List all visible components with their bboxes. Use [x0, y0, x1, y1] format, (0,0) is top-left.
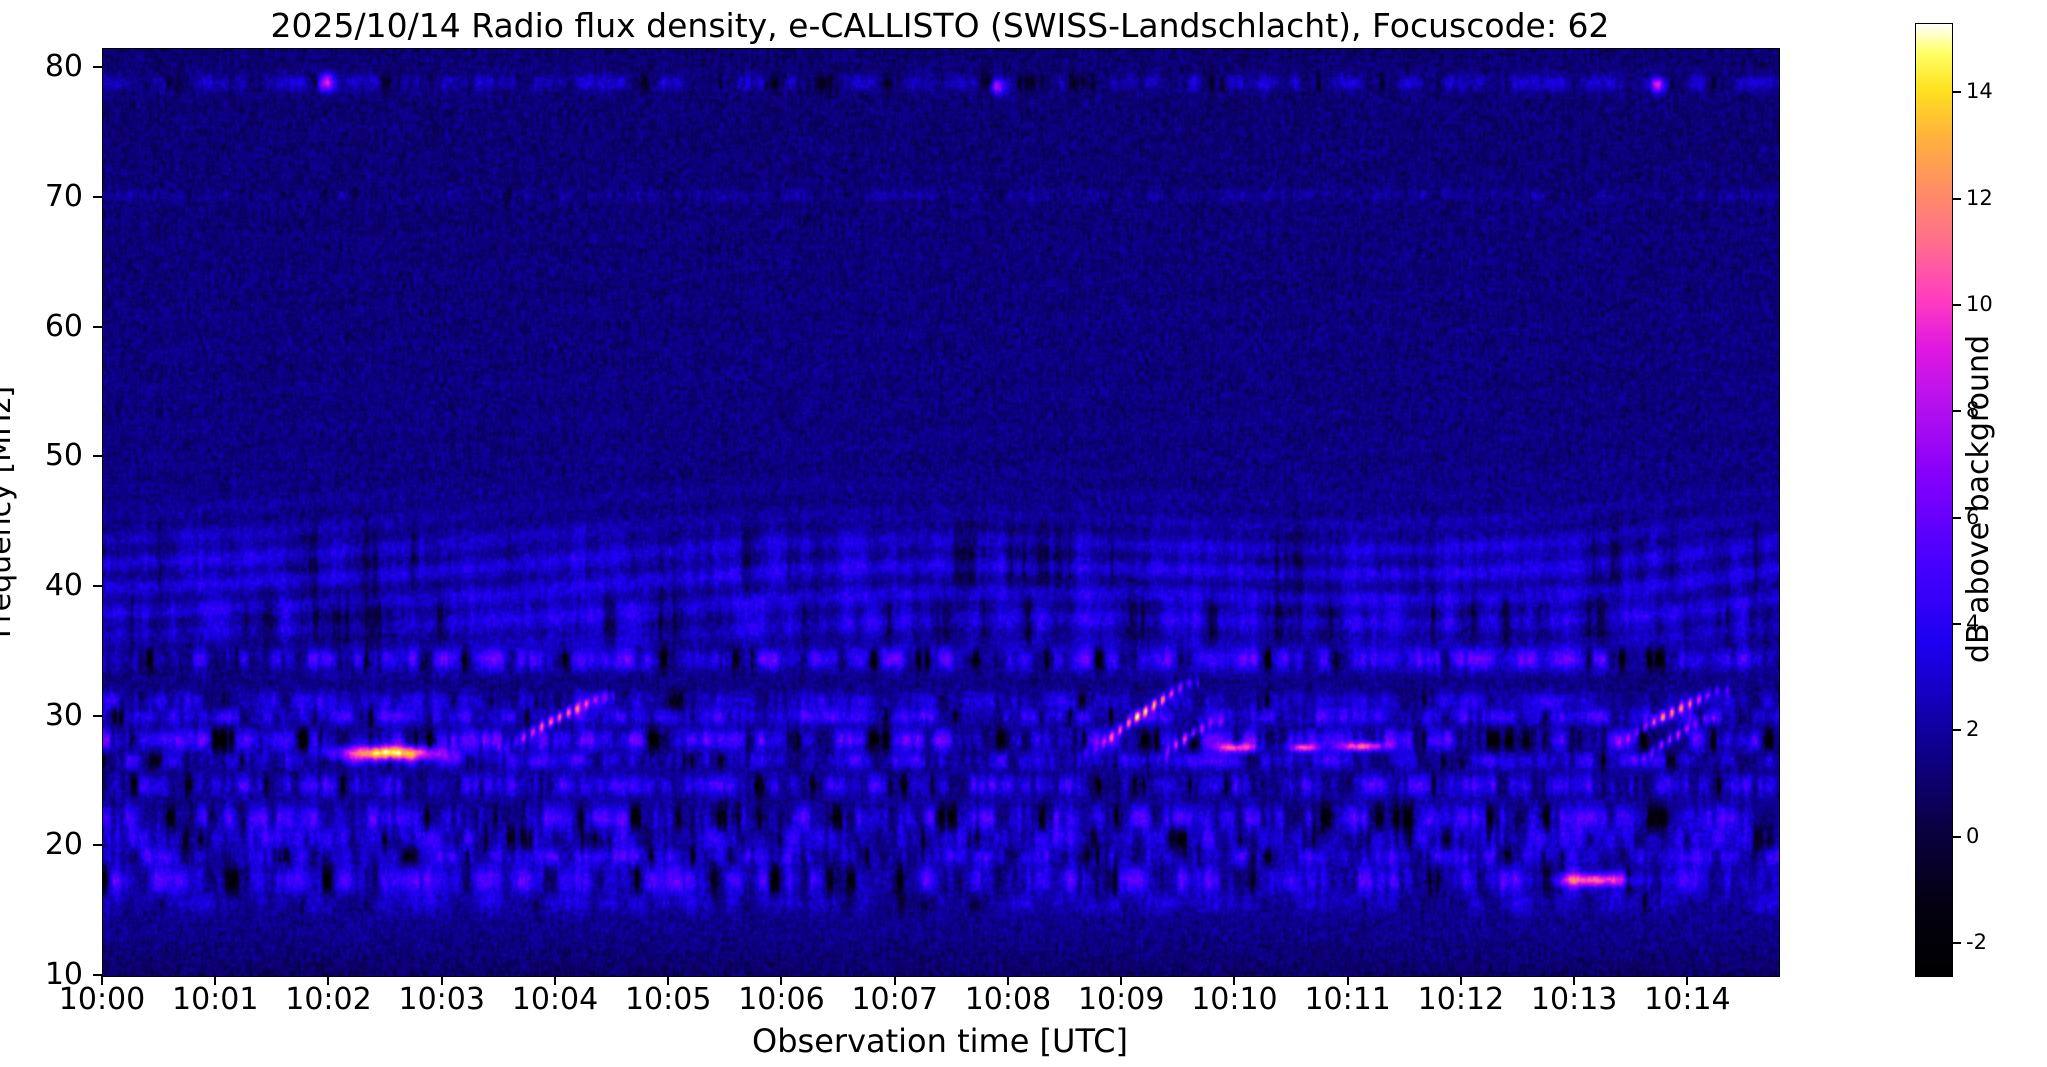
- y-tick-label: 80: [25, 52, 83, 82]
- x-tick-mark: [1347, 976, 1349, 985]
- spectrogram-plot-area: [102, 48, 1780, 977]
- x-tick-mark: [1573, 976, 1575, 985]
- x-tick-mark: [1686, 976, 1688, 985]
- colorbar-tick-label: -2: [1966, 932, 1987, 953]
- colorbar-tick-mark: [1953, 623, 1961, 625]
- y-tick-label: 60: [25, 312, 83, 342]
- colorbar: [1915, 23, 1953, 977]
- colorbar-label: dB above background: [1961, 335, 1996, 663]
- y-tick-mark: [93, 844, 102, 846]
- y-tick-label: 20: [25, 830, 83, 860]
- x-tick-mark: [214, 976, 216, 985]
- x-tick-mark: [101, 976, 103, 985]
- x-tick-mark: [667, 976, 669, 985]
- y-tick-label: 40: [25, 571, 83, 601]
- y-tick-mark: [93, 196, 102, 198]
- x-tick-mark: [1120, 976, 1122, 985]
- y-tick-label: 30: [25, 701, 83, 731]
- x-tick-mark: [554, 976, 556, 985]
- colorbar-tick-mark: [1953, 836, 1961, 838]
- colorbar-tick-mark: [1953, 304, 1961, 306]
- x-tick-mark: [1233, 976, 1235, 985]
- y-tick-label: 50: [25, 441, 83, 471]
- x-tick-mark: [894, 976, 896, 985]
- y-tick-mark: [93, 585, 102, 587]
- y-tick-label: 70: [25, 182, 83, 212]
- page-title: 2025/10/14 Radio flux density, e-CALLIST…: [102, 6, 1778, 46]
- y-tick-mark: [93, 66, 102, 68]
- x-tick-mark: [1460, 976, 1462, 985]
- y-tick-mark: [93, 326, 102, 328]
- x-tick-mark: [441, 976, 443, 985]
- colorbar-tick-mark: [1953, 942, 1961, 944]
- spectrogram-image: [103, 49, 1779, 976]
- y-tick-mark: [93, 455, 102, 457]
- x-axis-label: Observation time [UTC]: [102, 1022, 1778, 1060]
- colorbar-tick-label: 2: [1966, 719, 1979, 740]
- x-tick-mark: [780, 976, 782, 985]
- y-tick-mark: [93, 715, 102, 717]
- x-tick-mark: [327, 976, 329, 985]
- colorbar-tick-label: 0: [1966, 826, 1979, 847]
- colorbar-tick-mark: [1953, 198, 1961, 200]
- colorbar-gradient: [1916, 24, 1952, 976]
- colorbar-tick-label: 12: [1966, 188, 1993, 209]
- x-tick-label: 10:14: [1617, 984, 1757, 1016]
- colorbar-tick-label: 10: [1966, 294, 1993, 315]
- colorbar-tick-label: 14: [1966, 81, 1993, 102]
- colorbar-tick-mark: [1953, 91, 1961, 93]
- x-tick-mark: [1007, 976, 1009, 985]
- y-axis-label: Frequency [MHz]: [0, 385, 18, 637]
- colorbar-tick-mark: [1953, 410, 1961, 412]
- spectrogram-figure: 2025/10/14 Radio flux density, e-CALLIST…: [0, 0, 2047, 1067]
- colorbar-tick-mark: [1953, 729, 1961, 731]
- colorbar-tick-mark: [1953, 517, 1961, 519]
